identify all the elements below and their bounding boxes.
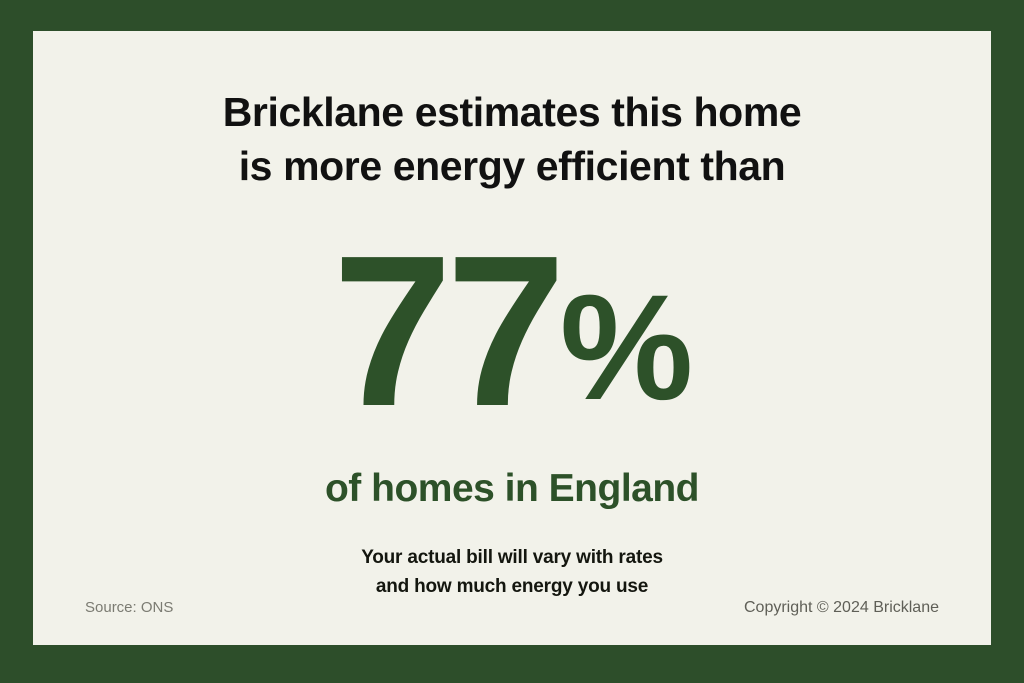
headline-line-1: Bricklane estimates this home: [33, 85, 991, 139]
statistic-block: 77%: [33, 231, 991, 453]
statistic-caption: of homes in England: [33, 465, 991, 513]
disclaimer-line-1: Your actual bill will vary with rates: [33, 543, 991, 572]
statistic-value: 77: [333, 231, 560, 431]
source-attribution: Source: ONS: [85, 599, 173, 616]
headline-line-2: is more energy efficient than: [33, 139, 991, 193]
footer: Source: ONS Copyright © 2024 Bricklane: [33, 599, 991, 621]
page-title: Bricklane estimates this home is more en…: [33, 85, 991, 193]
infographic-card: Bricklane estimates this home is more en…: [33, 31, 991, 645]
copyright-notice: Copyright © 2024 Bricklane: [744, 599, 939, 617]
disclaimer-text: Your actual bill will vary with rates an…: [33, 543, 991, 601]
disclaimer-line-2: and how much energy you use: [33, 572, 991, 601]
infographic-frame: Bricklane estimates this home is more en…: [0, 0, 1024, 683]
statistic-percent-symbol: %: [560, 247, 691, 447]
